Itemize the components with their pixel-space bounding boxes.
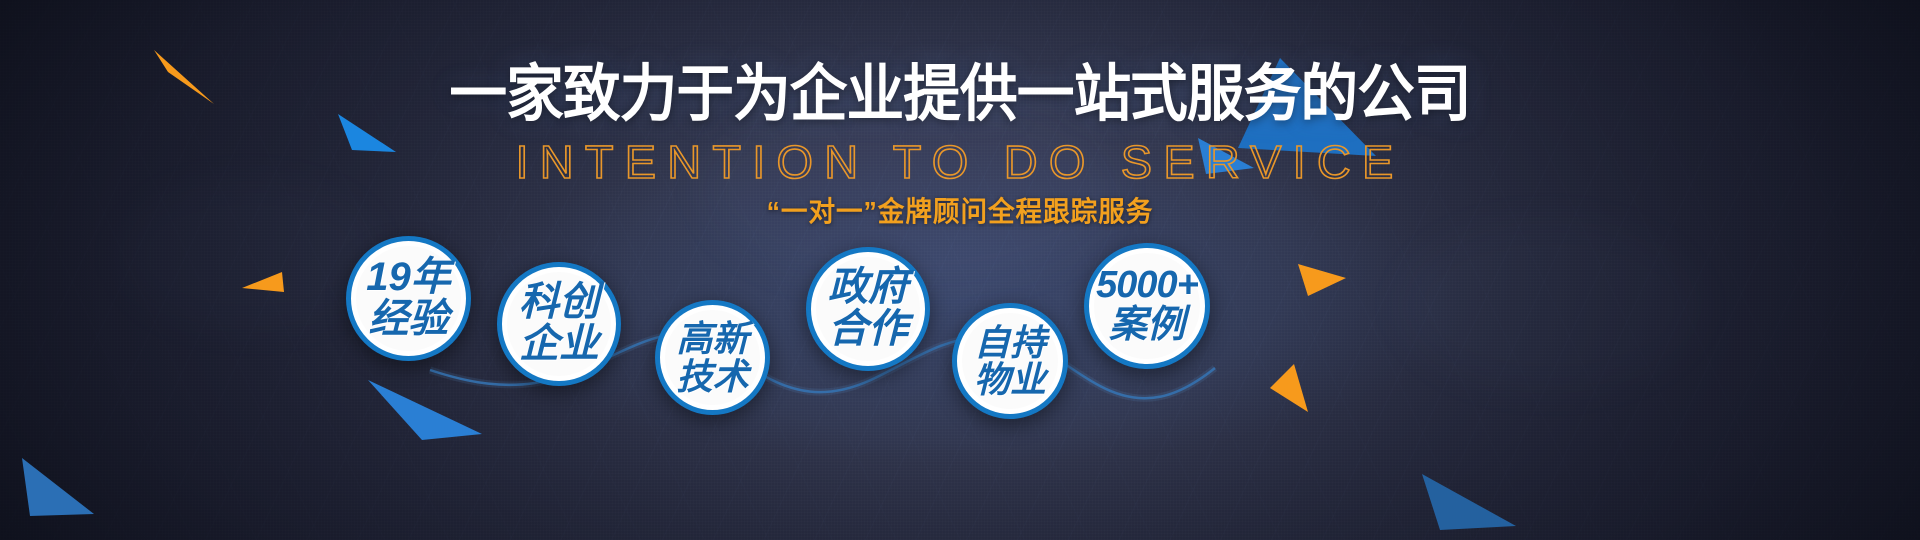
promotional-banner: 一家致力于为企业提供一站式服务的公司 INTENTION TO DO SERVI… xyxy=(0,0,1920,540)
bubble-line2: 技术 xyxy=(676,358,748,395)
bubble-line1: 高新 xyxy=(676,320,748,357)
bubble-line1: 自持 xyxy=(974,324,1046,361)
bubble-self-held-property[interactable]: 自持 物业 xyxy=(952,303,1068,419)
bubble-high-new-technology[interactable]: 高新 技术 xyxy=(655,300,770,415)
bubble-line2: 案例 xyxy=(1109,306,1185,346)
bubble-line2: 合作 xyxy=(828,309,908,351)
bubble-case-count[interactable]: 5000+ 案例 xyxy=(1084,243,1210,369)
bubble-line2: 企业 xyxy=(519,324,599,366)
bubble-tech-innovation-enterprise[interactable]: 科创 企业 xyxy=(497,262,621,386)
bubble-line1: 5000+ xyxy=(1096,266,1198,306)
bubble-line1: 政府 xyxy=(828,267,908,309)
bubble-line1: 19年 xyxy=(366,257,451,299)
bubble-line2: 物业 xyxy=(974,361,1046,398)
bubble-line2: 经验 xyxy=(369,299,449,341)
bubble-government-cooperation[interactable]: 政府 合作 xyxy=(806,247,930,371)
bubble-years-experience[interactable]: 19年 经验 xyxy=(346,236,471,361)
bubble-line1: 科创 xyxy=(519,282,599,324)
